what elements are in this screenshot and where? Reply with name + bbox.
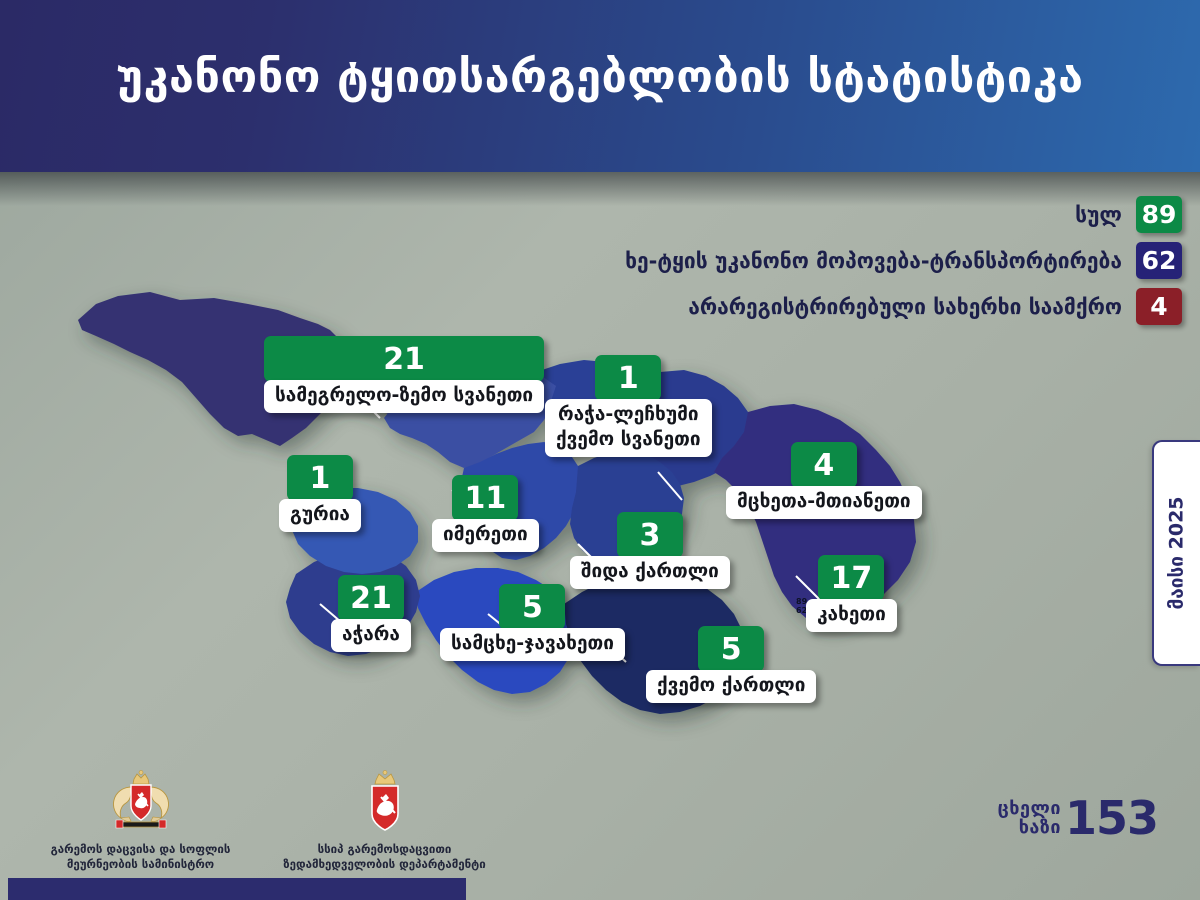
infographic-poster: უკანონო ტყითსარგებლობის სტატისტიკა სულ 8… bbox=[0, 0, 1200, 900]
callout-mtskheta-mtianeti: 4 მცხეთა-მთიანეთი bbox=[726, 442, 922, 519]
callout-kakheti: 17 კახეთი bbox=[806, 555, 897, 632]
callout-count-kvemo: 5 bbox=[698, 626, 764, 672]
georgia-coat-of-arms-icon bbox=[108, 770, 174, 834]
callout-count-samtskhe: 5 bbox=[499, 584, 565, 630]
callout-count-guria: 1 bbox=[287, 455, 353, 501]
callout-name-imereti: იმერეთი bbox=[432, 519, 539, 552]
callout-name-adjara: აჭარა bbox=[331, 619, 411, 652]
legend-badge-sawmill: 4 bbox=[1136, 288, 1182, 325]
org-department-line2: ზედამხედველობის დეპარტამენტი bbox=[262, 857, 507, 872]
footer-bar bbox=[8, 878, 466, 900]
callout-name-racha-line2: ქვემო სვანეთი bbox=[556, 427, 701, 452]
callout-guria: 1 გურია bbox=[279, 455, 361, 532]
legend: სულ 89 ხე-ტყის უკანონო მოპოვება-ტრანსპორ… bbox=[625, 196, 1182, 334]
callout-shida-kartli: 3 შიდა ქართლი bbox=[570, 512, 730, 589]
callout-count-samegrelo: 21 bbox=[264, 336, 544, 382]
legend-row-timber: ხე-ტყის უკანონო მოპოვება-ტრანსპორტირება … bbox=[625, 242, 1182, 279]
hotline-word2: ხაზი bbox=[998, 818, 1061, 837]
callout-name-racha-line1: რაჭა-ლეჩხუმი bbox=[556, 402, 701, 427]
callout-name-guria: გურია bbox=[279, 499, 361, 532]
legend-label-timber: ხე-ტყის უკანონო მოპოვება-ტრანსპორტირება bbox=[625, 249, 1122, 273]
header-band: უკანონო ტყითსარგებლობის სტატისტიკა bbox=[0, 0, 1200, 172]
callout-name-mtskheta: მცხეთა-მთიანეთი bbox=[726, 486, 922, 519]
callout-racha-lechkhumi: 1 რაჭა-ლეჩხუმი ქვემო სვანეთი bbox=[545, 355, 712, 457]
callout-adjara: 21 აჭარა bbox=[331, 575, 411, 652]
hotline-words: ცხელი ხაზი bbox=[998, 799, 1061, 837]
callout-name-kakheti: კახეთი bbox=[806, 599, 897, 632]
date-card: მაისი 2025 bbox=[1152, 440, 1200, 666]
callout-count-shida: 3 bbox=[617, 512, 683, 558]
callout-kvemo-kartli: 5 ქვემო ქართლი bbox=[646, 626, 816, 703]
org-department: სსიპ გარემოსდაცვითი ზედამხედველობის დეპა… bbox=[262, 770, 507, 872]
callout-name-kvemo: ქვემო ქართლი bbox=[646, 670, 816, 703]
callout-name-samegrelo: სამეგრელო-ზემო სვანეთი bbox=[264, 380, 544, 413]
legend-label-sawmill: არარეგისტრირებული სახერხი საამქრო bbox=[688, 295, 1122, 319]
legend-label-total: სულ bbox=[1075, 203, 1122, 227]
org-ministry-line2: მეურნეობის სამინისტრო bbox=[18, 857, 263, 872]
callout-samegrelo-zemo-svaneti: 21 სამეგრელო-ზემო სვანეთი bbox=[264, 336, 544, 413]
department-shield-icon bbox=[361, 770, 409, 834]
callout-name-racha: რაჭა-ლეჩხუმი ქვემო სვანეთი bbox=[545, 399, 712, 457]
legend-row-total: სულ 89 bbox=[625, 196, 1182, 233]
org-department-line1: სსიპ გარემოსდაცვითი bbox=[262, 842, 507, 857]
legend-badge-total: 89 bbox=[1136, 196, 1182, 233]
date-card-label: მაისი 2025 bbox=[1166, 496, 1188, 609]
page-title: უკანონო ტყითსარგებლობის სტატისტიკა bbox=[0, 48, 1200, 106]
hotline: ცხელი ხაზი 153 bbox=[998, 798, 1158, 838]
org-ministry-line1: გარემოს დაცვისა და სოფლის bbox=[18, 842, 263, 857]
hotline-word1: ცხელი bbox=[998, 799, 1061, 818]
legend-row-sawmill: არარეგისტრირებული სახერხი საამქრო 4 bbox=[625, 288, 1182, 325]
callout-count-adjara: 21 bbox=[338, 575, 404, 621]
callout-samtskhe-javakheti: 5 სამცხე-ჯავახეთი bbox=[440, 584, 625, 661]
callout-count-racha: 1 bbox=[595, 355, 661, 401]
org-department-caption: სსიპ გარემოსდაცვითი ზედამხედველობის დეპა… bbox=[262, 842, 507, 872]
org-ministry-caption: გარემოს დაცვისა და სოფლის მეურნეობის სამ… bbox=[18, 842, 263, 872]
callout-imereti: 11 იმერეთი bbox=[432, 475, 539, 552]
callout-name-samtskhe: სამცხე-ჯავახეთი bbox=[440, 628, 625, 661]
hotline-number: 153 bbox=[1065, 798, 1158, 838]
callout-count-kakheti: 17 bbox=[818, 555, 884, 601]
callout-count-mtskheta: 4 bbox=[791, 442, 857, 488]
callout-count-imereti: 11 bbox=[452, 475, 518, 521]
callout-name-shida: შიდა ქართლი bbox=[570, 556, 730, 589]
org-ministry: გარემოს დაცვისა და სოფლის მეურნეობის სამ… bbox=[18, 770, 263, 872]
legend-badge-timber: 62 bbox=[1136, 242, 1182, 279]
